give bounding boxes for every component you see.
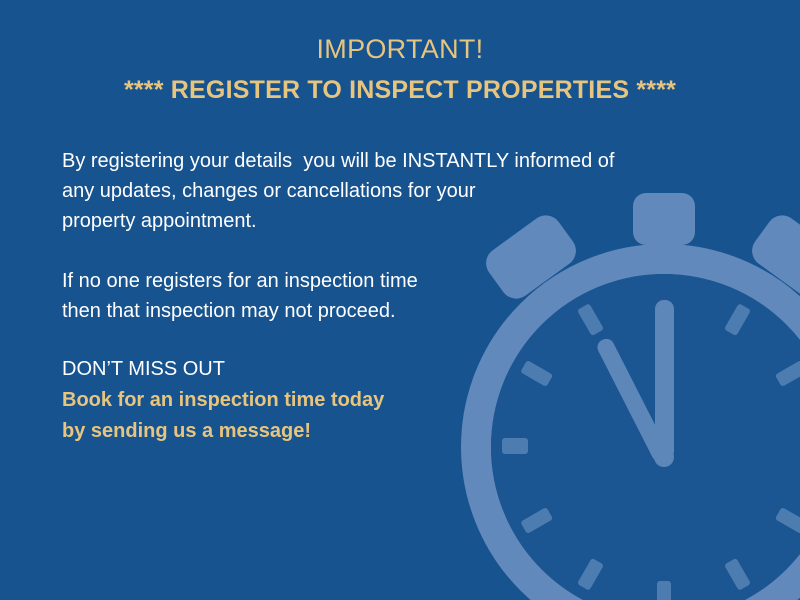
paragraph-spacer-2 (62, 326, 722, 354)
paragraph-1-line-3: property appointment. (62, 206, 722, 236)
promotional-slide: IMPORTANT! **** REGISTER TO INSPECT PROP… (0, 0, 800, 600)
paragraph-spacer-1 (62, 236, 722, 266)
cta-line-book-inspection: Book for an inspection time today (62, 385, 722, 416)
cta-line-send-message: by sending us a message! (62, 416, 722, 447)
heading-block: IMPORTANT! **** REGISTER TO INSPECT PROP… (0, 31, 800, 108)
body-block: By registering your details you will be … (62, 146, 722, 447)
paragraph-2-line-1: If no one registers for an inspection ti… (62, 266, 722, 296)
cta-line-dont-miss-out: DON’T MISS OUT (62, 354, 722, 385)
paragraph-1-line-2: any updates, changes or cancellations fo… (62, 176, 722, 206)
slide-subtitle: **** REGISTER TO INSPECT PROPERTIES **** (0, 72, 800, 108)
slide-title: IMPORTANT! (0, 31, 800, 67)
slide-content: IMPORTANT! **** REGISTER TO INSPECT PROP… (0, 0, 800, 600)
paragraph-2-line-2: then that inspection may not proceed. (62, 296, 722, 326)
paragraph-1-line-1: By registering your details you will be … (62, 146, 722, 176)
